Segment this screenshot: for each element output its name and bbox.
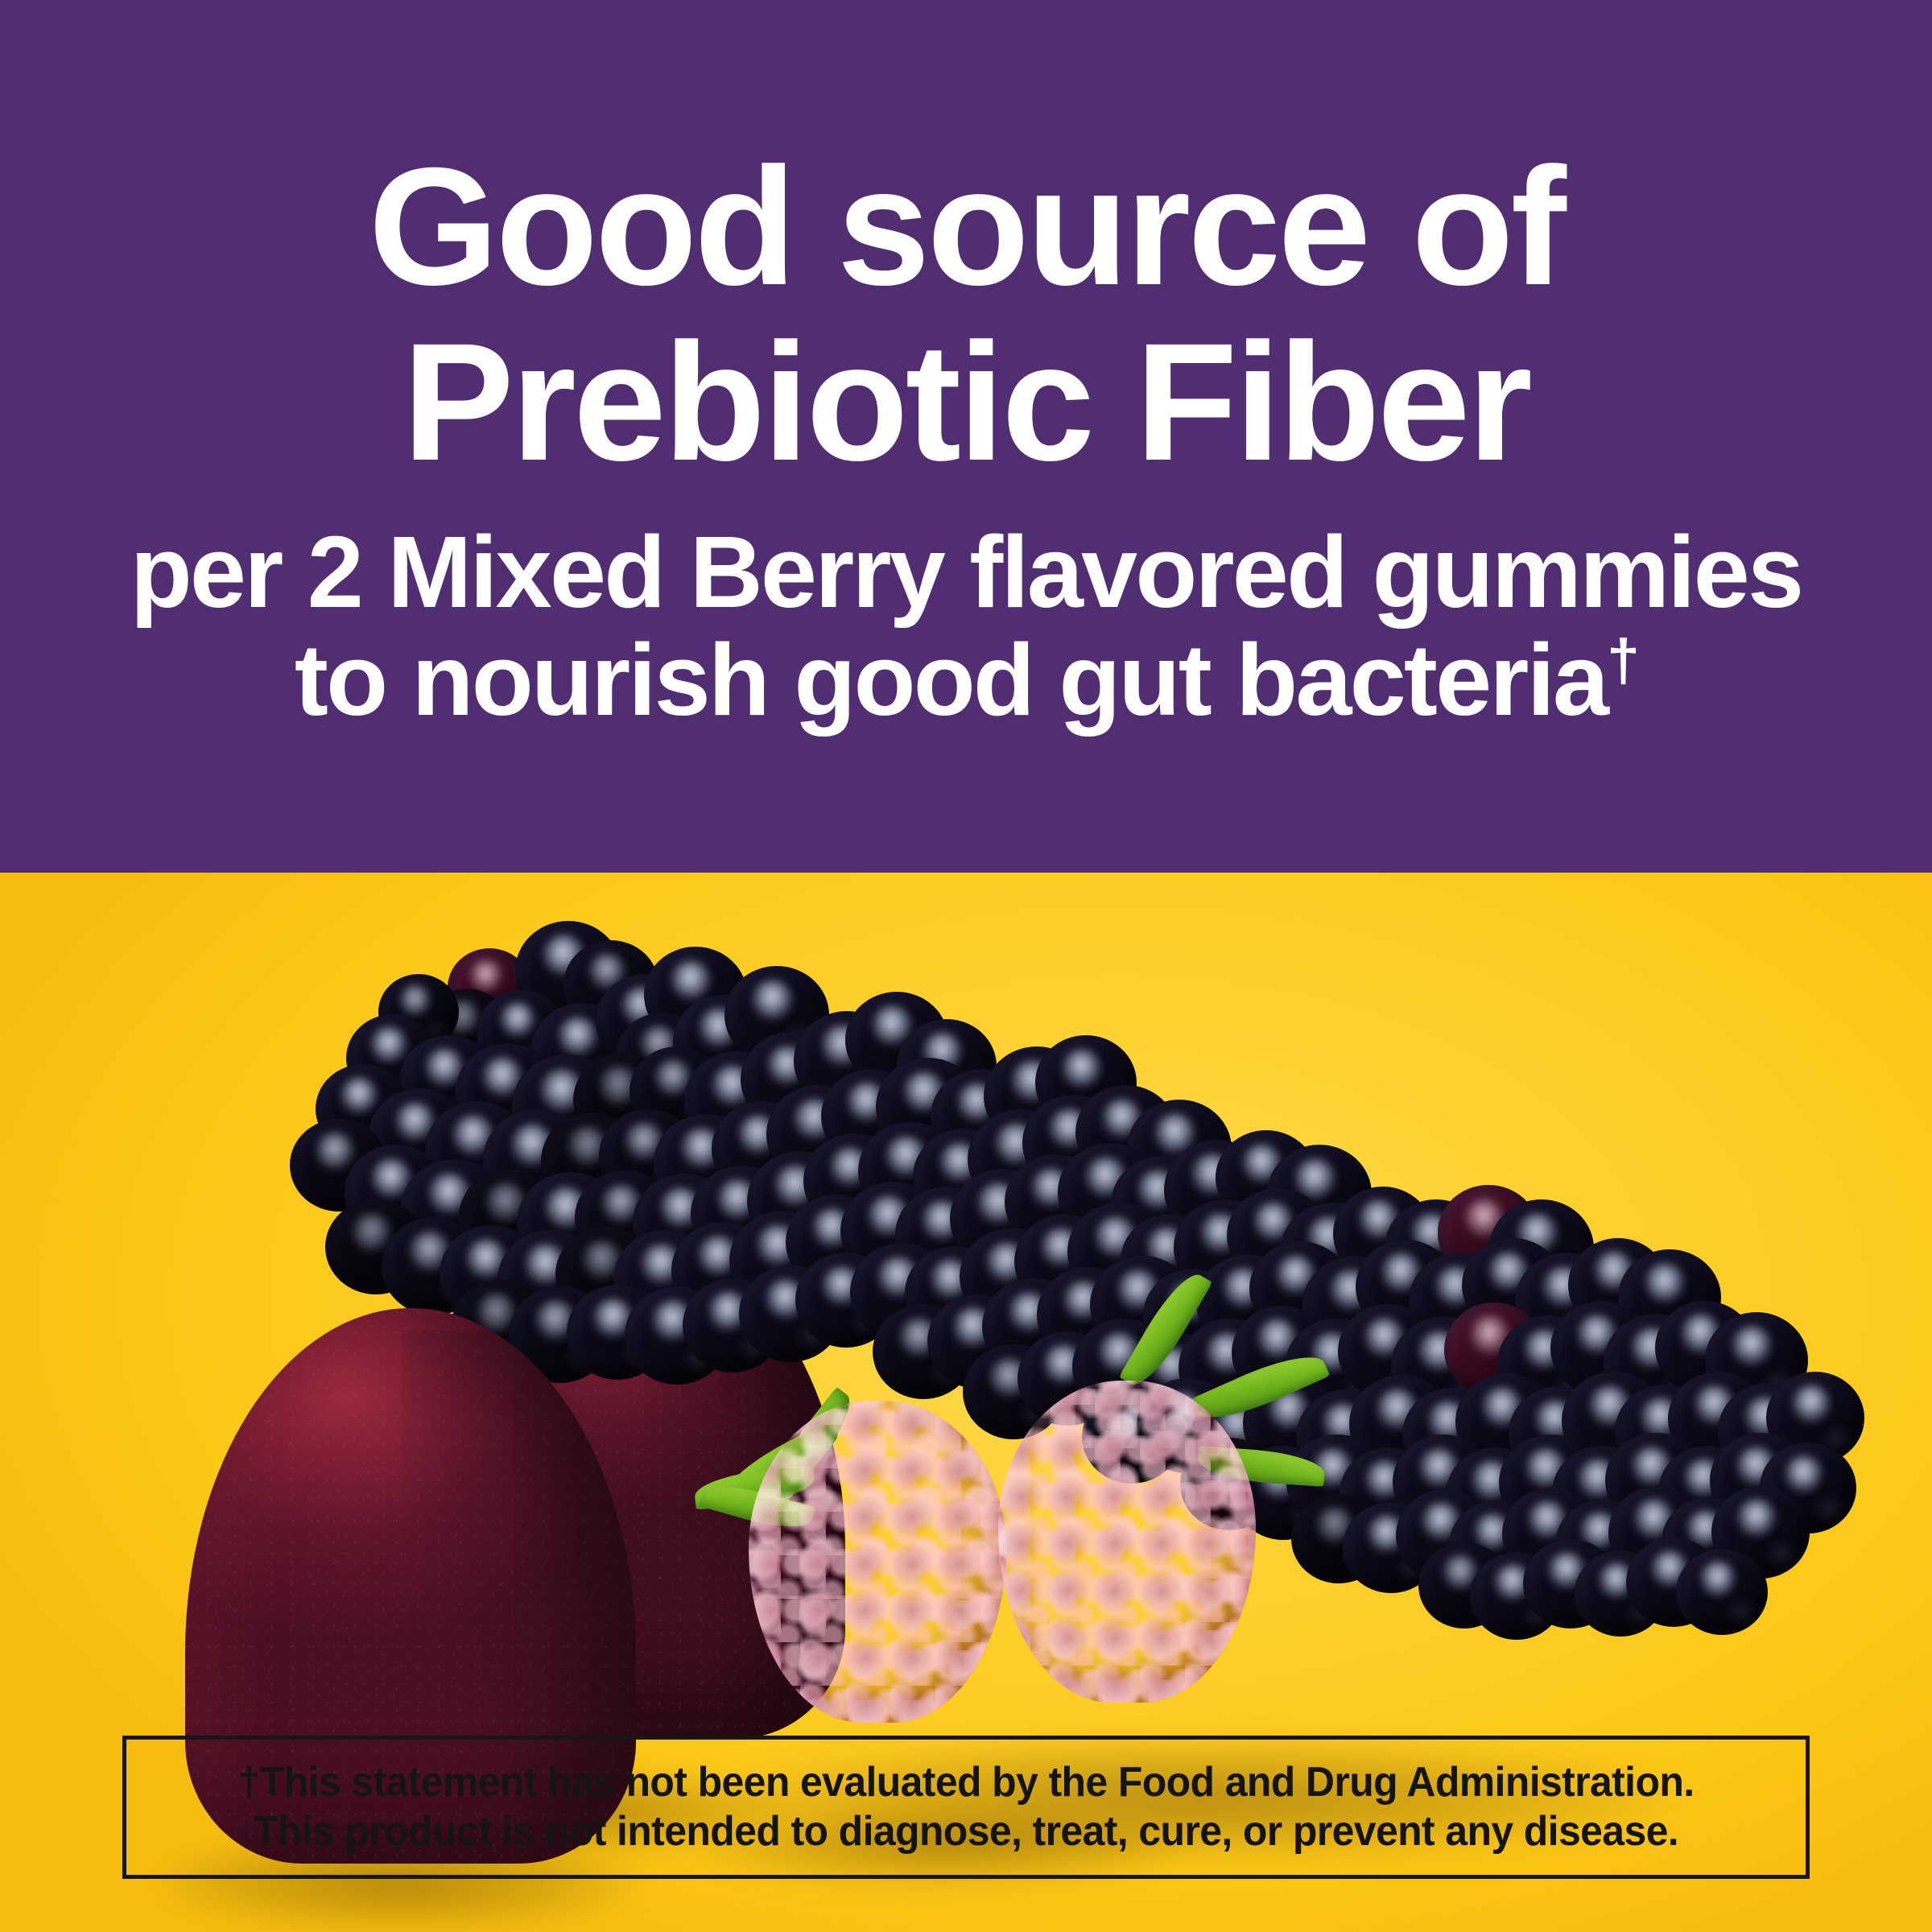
- subhead-line-2: to nourish good gut bacteria†: [0, 630, 1932, 731]
- headline-line-2: Prebiotic Fiber: [0, 319, 1932, 486]
- subhead-line-2-text: to nourish good gut bacteria: [295, 623, 1607, 737]
- disclaimer-line-1: †This statement has not been evaluated b…: [238, 1758, 1695, 1807]
- disclaimer-line-2: This product is not intended to diagnose…: [254, 1807, 1678, 1856]
- dagger-symbol: †: [1607, 628, 1637, 693]
- purple-hero-panel: Good source of Prebiotic Fiber per 2 Mix…: [0, 0, 1932, 873]
- fda-disclaimer-box: †This statement has not been evaluated b…: [122, 1736, 1810, 1879]
- product-marketing-image: Good source of Prebiotic Fiber per 2 Mix…: [0, 0, 1932, 1932]
- headline-line-1: Good source of: [0, 143, 1932, 311]
- subhead-line-1: per 2 Mixed Berry flavored gummies: [0, 522, 1932, 623]
